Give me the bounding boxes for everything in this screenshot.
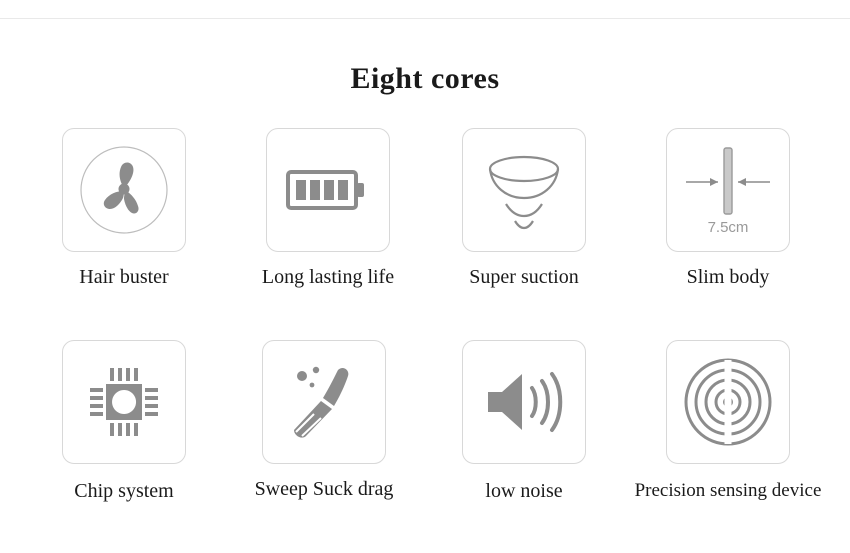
slim-annotation-text: 7.5cm — [708, 219, 749, 236]
radar-sensor-icon — [680, 354, 776, 450]
feature-tile — [462, 340, 586, 464]
broom-sweep-icon — [276, 354, 372, 450]
feature-row-2: Chip system Sweep Suck dr — [0, 340, 850, 552]
slim-thickness-icon: 7.5cm — [672, 134, 784, 246]
battery-icon — [282, 160, 374, 220]
feature-item-chip-system[interactable]: Chip system — [24, 340, 224, 503]
feature-item-low-noise[interactable]: low noise — [424, 340, 624, 503]
feature-tile — [666, 340, 790, 464]
feature-tile — [266, 128, 390, 252]
fan-blade-icon — [76, 142, 172, 238]
feature-label: Slim body — [628, 266, 828, 289]
feature-label: Super suction — [424, 266, 624, 289]
feature-label: Hair buster — [24, 266, 224, 289]
feature-row-1: Hair buster Long lasting life — [0, 128, 850, 340]
feature-label: Precision sensing device — [628, 480, 828, 502]
feature-tile — [262, 340, 386, 464]
feature-item-hair-buster[interactable]: Hair buster — [24, 128, 224, 289]
feature-tile: 7.5cm — [666, 128, 790, 252]
top-divider-strip — [0, 0, 850, 19]
feature-grid: Hair buster Long lasting life — [0, 128, 850, 552]
feature-item-sweep-suck-drag[interactable]: Sweep Suck drag — [224, 340, 424, 501]
feature-item-super-suction[interactable]: Super suction — [424, 128, 624, 289]
chip-icon — [76, 354, 172, 450]
feature-item-slim-body[interactable]: 7.5cm Slim body — [628, 128, 828, 289]
feature-label: Chip system — [24, 480, 224, 503]
feature-item-precision-sensing-device[interactable]: Precision sensing device — [628, 340, 828, 502]
page-title: Eight cores — [0, 62, 850, 96]
feature-item-long-lasting-life[interactable]: Long lasting life — [228, 128, 428, 289]
feature-tile — [62, 128, 186, 252]
feature-tile — [62, 340, 186, 464]
feature-label: Long lasting life — [228, 266, 428, 289]
speaker-sound-icon — [476, 362, 572, 442]
feature-label: Sweep Suck drag — [224, 478, 424, 501]
feature-tile — [462, 128, 586, 252]
feature-label: low noise — [424, 480, 624, 503]
suction-vortex-icon — [476, 142, 572, 238]
